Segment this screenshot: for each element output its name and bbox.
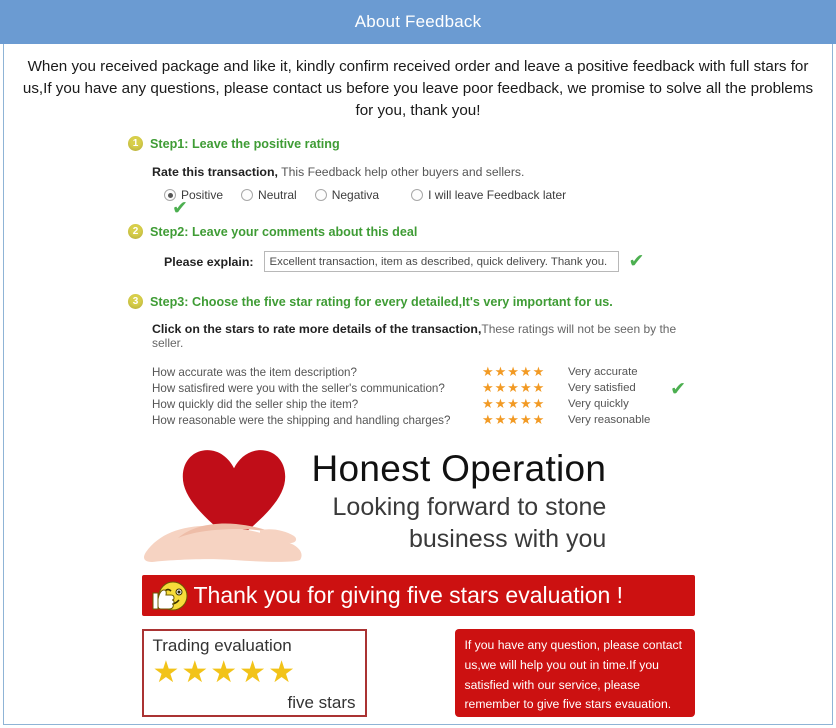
thanks-text: Thank you for giving five stars evaluati… — [194, 582, 624, 609]
check-icon-positive: ✔ — [172, 199, 188, 218]
honest-text-block: Honest Operation Looking forward to ston… — [312, 444, 607, 553]
step2-header: 2 Step2: Leave your comments about this … — [128, 224, 708, 239]
rating-stars-icon[interactable]: ★★★★★ — [482, 398, 568, 411]
bottom-boxes: Trading evaluation ★★★★★ five stars If y… — [142, 629, 695, 717]
thanks-banner: Thank you for giving five stars evaluati… — [142, 575, 695, 616]
rating-row: How satisfired were you with the seller'… — [152, 380, 708, 396]
trading-evaluation-box: Trading evaluation ★★★★★ five stars — [142, 629, 367, 717]
steps-container: 1 Step1: Leave the positive rating Rate … — [128, 136, 708, 428]
step1-header: 1 Step1: Leave the positive rating — [128, 136, 708, 151]
rate-transaction-note: This Feedback help other buyers and sell… — [281, 165, 524, 179]
page-title: About Feedback — [355, 12, 482, 32]
rating-question: How quickly did the seller ship the item… — [152, 398, 482, 411]
honest-line-2: business with you — [312, 525, 607, 553]
step3-body: Click on the stars to rate more details … — [128, 322, 708, 428]
check-icon-explain: ✔ — [629, 252, 645, 271]
step1-title: Step1: Leave the positive rating — [150, 137, 340, 151]
promo-media: Honest Operation Looking forward to ston… — [142, 444, 695, 717]
radio-option-later[interactable]: I will leave Feedback later — [411, 188, 566, 202]
rating-row: How accurate was the item description? ★… — [152, 364, 708, 380]
step3-header: 3 Step3: Choose the five star rating for… — [128, 294, 708, 309]
contact-note-box: If you have any question, please contact… — [455, 629, 695, 717]
click-stars-line: Click on the stars to rate more details … — [152, 322, 708, 350]
radio-option-positive[interactable]: Positive ✔ — [164, 188, 223, 202]
intro-paragraph: When you received package and like it, k… — [4, 44, 832, 126]
rating-value: Very quickly — [568, 398, 629, 410]
click-stars-bold: Click on the stars to rate more details … — [152, 322, 481, 336]
rate-transaction-label: Rate this transaction, — [152, 165, 278, 179]
heart-in-hand-graphic — [142, 444, 312, 566]
winking-smiley-thumbs-up-icon — [148, 579, 188, 613]
step2-body: Please explain: ✔ — [128, 251, 708, 272]
honest-line-1: Looking forward to stone — [312, 493, 607, 521]
rating-question: How reasonable were the shipping and han… — [152, 414, 482, 427]
step2-title: Step2: Leave your comments about this de… — [150, 225, 417, 239]
explain-row: Please explain: ✔ — [152, 251, 708, 272]
step3-title: Step3: Choose the five star rating for e… — [150, 295, 613, 309]
check-icon-ratings: ✔ — [670, 380, 686, 399]
explain-input[interactable] — [264, 251, 619, 272]
radio-icon-later[interactable] — [411, 189, 423, 201]
trading-evaluation-title: Trading evaluation — [153, 636, 356, 656]
radio-option-negativa[interactable]: Negativa — [315, 188, 379, 202]
rating-question: How accurate was the item description? — [152, 366, 482, 379]
title-bar: About Feedback — [0, 0, 836, 44]
rating-value: Very reasonable — [568, 414, 650, 426]
rating-row: How reasonable were the shipping and han… — [152, 412, 708, 428]
radio-icon-negativa[interactable] — [315, 189, 327, 201]
step1-body: Rate this transaction, This Feedback hel… — [128, 165, 708, 202]
rating-question: How satisfired were you with the seller'… — [152, 382, 482, 395]
honest-operation-banner: Honest Operation Looking forward to ston… — [142, 444, 695, 566]
rating-value: Very satisfied — [568, 382, 636, 394]
content-frame: When you received package and like it, k… — [3, 44, 833, 725]
rating-stars-icon[interactable]: ★★★★★ — [482, 414, 568, 427]
rating-value: Very accurate — [568, 366, 638, 378]
step1-badge: 1 — [128, 136, 143, 151]
feedback-page: About Feedback When you received package… — [0, 0, 836, 728]
hand-icon — [142, 502, 310, 564]
step3-badge: 3 — [128, 294, 143, 309]
honest-heading: Honest Operation — [312, 450, 607, 489]
radio-label-later: I will leave Feedback later — [428, 188, 566, 202]
trading-evaluation-stars-icon: ★★★★★ — [153, 657, 356, 689]
radio-option-neutral[interactable]: Neutral — [241, 188, 297, 202]
step2-badge: 2 — [128, 224, 143, 239]
radio-label-neutral: Neutral — [258, 188, 297, 202]
radio-icon-neutral[interactable] — [241, 189, 253, 201]
rating-row: How quickly did the seller ship the item… — [152, 396, 708, 412]
radio-label-negativa: Negativa — [332, 188, 379, 202]
trading-evaluation-subtitle: five stars — [287, 693, 355, 713]
rate-transaction-line: Rate this transaction, This Feedback hel… — [152, 165, 708, 179]
rating-stars-icon[interactable]: ★★★★★ — [482, 382, 568, 395]
ratings-table: How accurate was the item description? ★… — [152, 364, 708, 428]
rating-stars-icon[interactable]: ★★★★★ — [482, 366, 568, 379]
explain-label: Please explain: — [164, 255, 254, 269]
rating-radio-group: Positive ✔ Neutral Negativa I will leave… — [152, 188, 708, 202]
